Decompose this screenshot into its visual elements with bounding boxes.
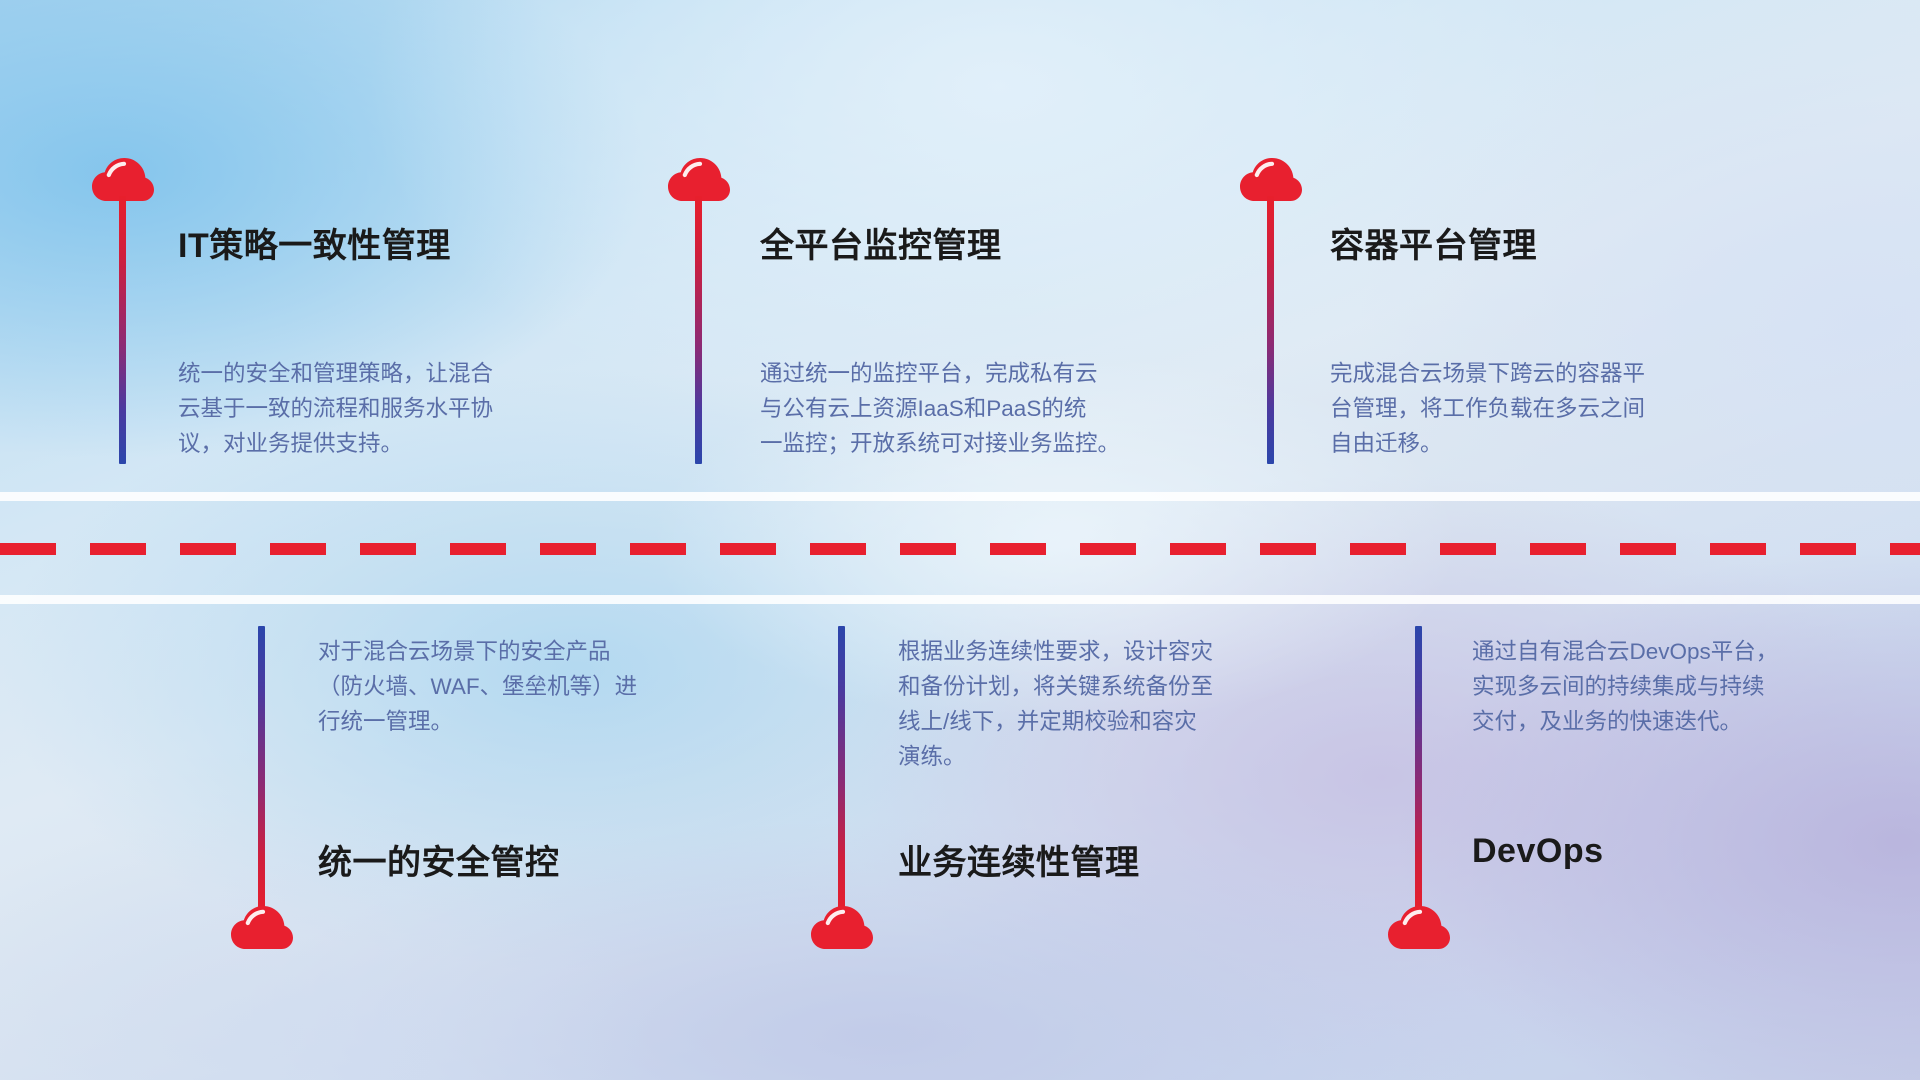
pin-unified-security <box>231 906 293 950</box>
infographic-canvas: IT策略一致性管理 统一的安全和管理策略，让混合 云基于一致的流程和服务水平协 … <box>0 0 1920 1080</box>
card-body: 对于混合云场景下的安全产品 （防火墙、WAF、堡垒机等）进 行统一管理。 <box>318 634 748 739</box>
cloud-icon <box>1388 906 1450 950</box>
card-title: 业务连续性管理 <box>898 835 1140 884</box>
card-title: 容器平台管理 <box>1330 218 1537 267</box>
accent-bar-it-policy-consistency <box>119 196 126 464</box>
card-body: 统一的安全和管理策略，让混合 云基于一致的流程和服务水平协 议，对业务提供支持。 <box>178 356 598 461</box>
card-body: 完成混合云场景下跨云的容器平 台管理，将工作负载在多云之间 自由迁移。 <box>1330 356 1750 461</box>
card-title: DevOps <box>1472 832 1604 871</box>
accent-bar-container-platform <box>1267 196 1274 464</box>
accent-bar-business-continuity <box>838 626 845 916</box>
divider-rule-upper <box>0 492 1920 501</box>
accent-bar-devops <box>1415 626 1422 916</box>
card-title: IT策略一致性管理 <box>178 218 451 267</box>
accent-bar-full-platform-monitoring <box>695 196 702 464</box>
divider-rule-lower <box>0 595 1920 604</box>
card-title: 统一的安全管控 <box>318 835 560 884</box>
card-title: 全平台监控管理 <box>760 218 1002 267</box>
divider-dashed-line <box>0 543 1920 555</box>
cloud-icon <box>811 906 873 950</box>
pin-business-continuity <box>811 906 873 950</box>
card-body: 通过自有混合云DevOps平台， 实现多云间的持续集成与持续 交付，及业务的快速… <box>1472 634 1892 739</box>
accent-bar-unified-security <box>258 626 265 916</box>
card-body: 通过统一的监控平台，完成私有云 与公有云上资源IaaS和PaaS的统 一监控；开… <box>760 356 1200 461</box>
card-body: 根据业务连续性要求，设计容灾 和备份计划，将关键系统备份至 线上/线下，并定期校… <box>898 634 1328 774</box>
cloud-icon <box>231 906 293 950</box>
pin-devops <box>1388 906 1450 950</box>
